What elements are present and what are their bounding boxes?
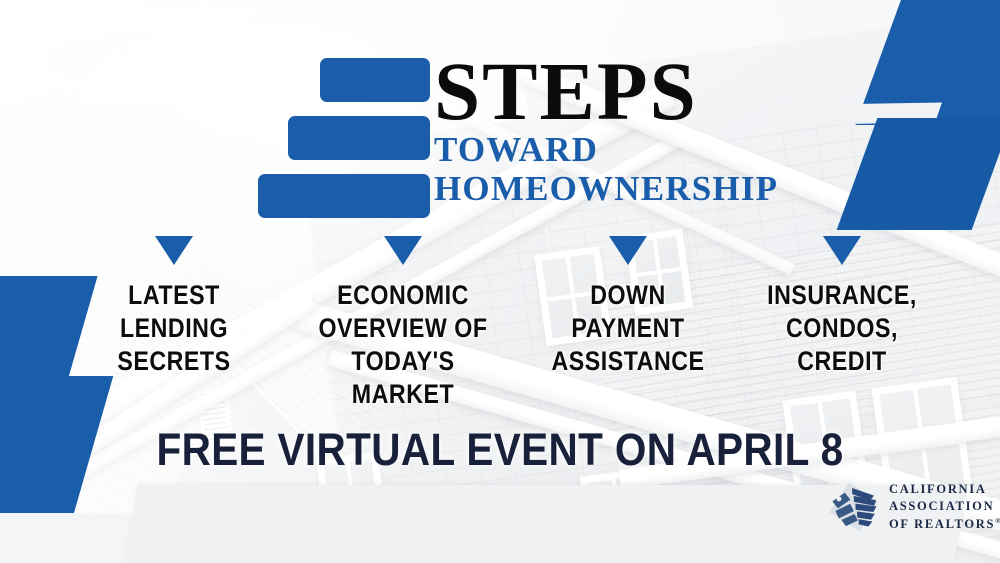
steps-wordmark: STEPS TOWARD HOMEOWNERSHIP [434,52,778,208]
triangle-down-icon [823,236,861,265]
logo-subtitle-line-2: HOMEOWNERSHIP [434,169,778,208]
feature-column-economic-overview: ECONOMIC OVERVIEW OF TODAY'S MARKET [288,236,518,411]
steps-bars-mark [258,58,430,206]
sponsor-line-3: OF REALTORS® [889,516,1000,533]
sponsor-text: CALIFORNIA ASSOCIATION OF REALTORS® [889,481,1000,533]
bar-middle-icon [288,116,430,160]
bar-bottom-icon [258,174,430,218]
steps-logo: STEPS TOWARD HOMEOWNERSHIP [258,52,758,212]
triangle-down-icon [384,236,422,265]
sponsor-line-3-text: OF REALTORS [889,517,995,531]
feature-label: DOWN PAYMENT ASSISTANCE [542,279,714,378]
poster-canvas: STEPS TOWARD HOMEOWNERSHIP LATEST LENDIN… [0,0,1000,563]
triangle-down-icon [155,236,193,265]
sponsor-line-2: ASSOCIATION [889,498,1000,515]
california-association-of-realtors-mark [828,480,880,534]
bar-top-icon [320,58,430,102]
event-headline: FREE VIRTUAL EVENT ON APRIL 8 [50,424,950,476]
feature-columns: LATEST LENDING SECRETS ECONOMIC OVERVIEW… [0,236,1000,411]
sponsor-line-1: CALIFORNIA [889,481,1000,498]
feature-column-insurance-condos-credit: INSURANCE, CONDOS, CREDIT [742,236,942,378]
feature-column-down-payment-assistance: DOWN PAYMENT ASSISTANCE [528,236,728,378]
logo-title: STEPS [434,52,778,130]
feature-label: ECONOMIC OVERVIEW OF TODAY'S MARKET [304,279,502,411]
registered-trademark-icon: ® [995,516,1000,524]
feature-label: INSURANCE, CONDOS, CREDIT [756,279,928,378]
triangle-down-icon [609,236,647,265]
california-association-of-realtors-logo: CALIFORNIA ASSOCIATION OF REALTORS® [828,480,1000,534]
feature-column-latest-lending-secrets: LATEST LENDING SECRETS [74,236,274,378]
feature-label: LATEST LENDING SECRETS [88,279,260,378]
